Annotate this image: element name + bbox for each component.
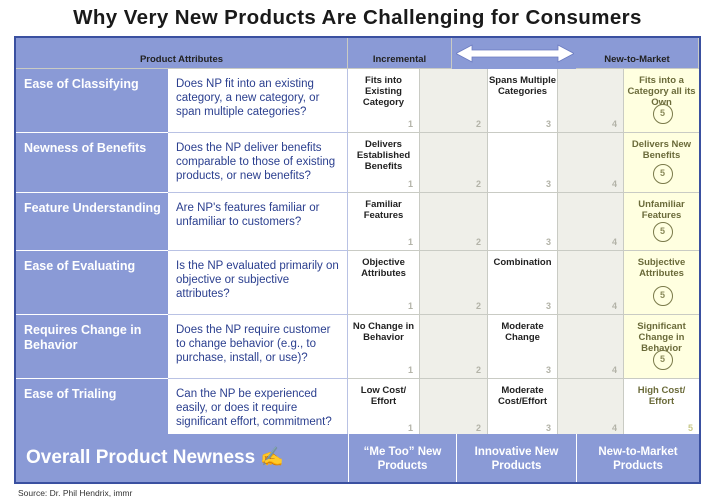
cell-text: Delivers New Benefits [632, 139, 691, 161]
table-row: Feature Understanding Are NP's features … [16, 193, 699, 251]
row-label: Ease of Trialing [16, 379, 168, 437]
cell-number: 1 [408, 237, 413, 248]
cell-number-circled: 5 [653, 350, 673, 370]
cell-number: 4 [612, 179, 617, 190]
row-label: Ease of Evaluating [16, 251, 168, 315]
cell-level-5[interactable]: High Cost/ Effort 5 [624, 379, 699, 437]
source-note: Source: Dr. Phil Hendrix, immr [18, 488, 132, 498]
cell-level-1[interactable]: Objective Attributes1 [348, 251, 420, 315]
table-row: Ease of Classifying Does NP fit into an … [16, 69, 699, 133]
cell-level-4[interactable]: 4 [558, 251, 624, 315]
table-row: Ease of Trialing Can the NP be experienc… [16, 379, 699, 437]
cell-level-1[interactable]: Familiar Features1 [348, 193, 420, 251]
cell-level-5[interactable]: Unfamiliar Features5 [624, 193, 699, 251]
cell-level-3[interactable]: Moderate Change3 [488, 315, 558, 379]
row-question: Is the NP evaluated primarily on objecti… [168, 251, 348, 315]
cell-level-5[interactable]: Significant Change in Behavior5 [624, 315, 699, 379]
cell-level-2[interactable]: 2 [420, 69, 488, 133]
cell-text: Moderate Cost/Effort [498, 385, 547, 407]
cell-number: 4 [612, 365, 617, 376]
matrix-frame: Product Attributes Incremental New-to-Ma… [14, 36, 701, 484]
double-headed-arrow-icon [456, 44, 574, 63]
row-question: Are NP's features familiar or unfamiliar… [168, 193, 348, 251]
summary-band: Overall Product Newness ✍ “Me Too” New P… [16, 434, 699, 482]
cell-number-circled: 5 [653, 164, 673, 184]
cell-level-3[interactable]: Combination3 [488, 251, 558, 315]
cell-level-4[interactable]: 4 [558, 133, 624, 193]
cell-level-2[interactable]: 2 [420, 193, 488, 251]
cell-number: 1 [408, 179, 413, 190]
cell-level-3[interactable]: Moderate Cost/Effort3 [488, 379, 558, 437]
cell-level-3[interactable]: 3 [488, 193, 558, 251]
summary-cell-new-to-market[interactable]: New-to-Market Products [576, 434, 699, 482]
cell-text: Delivers Established Benefits [357, 139, 410, 172]
cell-level-1[interactable]: Low Cost/ Effort1 [348, 379, 420, 437]
cell-text: Fits into Existing Category [363, 75, 404, 108]
cell-text: Low Cost/ Effort [361, 385, 406, 407]
cell-level-5[interactable]: Delivers New Benefits5 [624, 133, 699, 193]
cell-text: No Change in Behavior [353, 321, 414, 343]
cell-level-2[interactable]: 2 [420, 379, 488, 437]
slide: Why Very New Products Are Challenging fo… [0, 0, 715, 500]
matrix-header: Product Attributes Incremental New-to-Ma… [16, 38, 699, 69]
summary-label: Overall Product Newness ✍ [16, 434, 348, 482]
cell-level-5[interactable]: Fits into a Category all its Own5 [624, 69, 699, 133]
cell-number: 2 [476, 423, 481, 434]
cell-number: 1 [408, 119, 413, 130]
cell-number-circled: 5 [653, 222, 673, 242]
row-cells: Familiar Features1 2 3 4 Unfamiliar Feat… [348, 193, 699, 251]
row-label: Feature Understanding [16, 193, 168, 251]
cell-number-circled: 5 [653, 286, 673, 306]
cell-number-circled: 5 [653, 104, 673, 124]
cell-number: 5 [688, 423, 693, 434]
cell-text: Familiar Features [364, 199, 404, 221]
cell-number: 1 [408, 301, 413, 312]
summary-cell-innovative[interactable]: Innovative New Products [456, 434, 576, 482]
table-row: Ease of Evaluating Is the NP evaluated p… [16, 251, 699, 315]
row-label: Ease of Classifying [16, 69, 168, 133]
cell-number: 3 [546, 365, 551, 376]
row-cells: Fits into Existing Category1 2 Spans Mul… [348, 69, 699, 133]
cell-number: 3 [546, 119, 551, 130]
cell-level-4[interactable]: 4 [558, 379, 624, 437]
table-row: Newness of Benefits Does the NP deliver … [16, 133, 699, 193]
row-question: Does the NP require customer to change b… [168, 315, 348, 379]
cell-level-2[interactable]: 2 [420, 315, 488, 379]
cell-text: High Cost/ Effort [638, 385, 686, 407]
cell-level-5[interactable]: Subjective Attributes5 [624, 251, 699, 315]
cell-number: 3 [546, 301, 551, 312]
cell-number: 4 [612, 119, 617, 130]
cell-level-1[interactable]: No Change in Behavior1 [348, 315, 420, 379]
cell-level-4[interactable]: 4 [558, 193, 624, 251]
cell-number: 2 [476, 237, 481, 248]
cell-number: 3 [546, 179, 551, 190]
row-question: Can the NP be experienced easily, or doe… [168, 379, 348, 437]
cell-number: 2 [476, 301, 481, 312]
page-title: Why Very New Products Are Challenging fo… [0, 6, 715, 30]
cell-text: Combination [493, 257, 551, 268]
cell-level-1[interactable]: Delivers Established Benefits1 [348, 133, 420, 193]
cell-text: Objective Attributes [361, 257, 406, 279]
row-cells: Delivers Established Benefits1 2 3 4 Del… [348, 133, 699, 193]
cell-text: Moderate Change [501, 321, 543, 343]
cell-number: 2 [476, 119, 481, 130]
cell-level-4[interactable]: 4 [558, 69, 624, 133]
table-row: Requires Change in Behavior Does the NP … [16, 315, 699, 379]
cell-level-1[interactable]: Fits into Existing Category1 [348, 69, 420, 133]
cell-number: 3 [546, 423, 551, 434]
row-cells: Objective Attributes1 2 Combination3 4 S… [348, 251, 699, 315]
cell-text: Subjective Attributes [638, 257, 686, 279]
row-cells: Low Cost/ Effort1 2 Moderate Cost/Effort… [348, 379, 699, 437]
cell-number: 2 [476, 179, 481, 190]
row-label: Requires Change in Behavior [16, 315, 168, 379]
cell-number: 4 [612, 237, 617, 248]
row-question: Does the NP deliver benefits comparable … [168, 133, 348, 193]
cell-number: 2 [476, 365, 481, 376]
row-question: Does NP fit into an existing category, a… [168, 69, 348, 133]
cell-level-4[interactable]: 4 [558, 315, 624, 379]
cell-level-3[interactable]: 3 [488, 133, 558, 193]
header-incremental: Incremental [348, 38, 452, 69]
cell-number: 4 [612, 301, 617, 312]
cell-number: 1 [408, 365, 413, 376]
row-cells: No Change in Behavior1 2 Moderate Change… [348, 315, 699, 379]
cell-level-3[interactable]: Spans Multiple Categories3 [488, 69, 558, 133]
row-label: Newness of Benefits [16, 133, 168, 193]
summary-cell-me-too[interactable]: “Me Too” New Products [348, 434, 456, 482]
cell-level-2[interactable]: 2 [420, 133, 488, 193]
cell-number: 3 [546, 237, 551, 248]
cell-text: Unfamiliar Features [638, 199, 684, 221]
cell-level-2[interactable]: 2 [420, 251, 488, 315]
cell-text: Spans Multiple Categories [489, 75, 556, 97]
header-product-attributes: Product Attributes [16, 38, 348, 69]
cell-number: 1 [408, 423, 413, 434]
cell-number: 4 [612, 423, 617, 434]
header-new-to-market: New-to-Market [576, 38, 699, 69]
